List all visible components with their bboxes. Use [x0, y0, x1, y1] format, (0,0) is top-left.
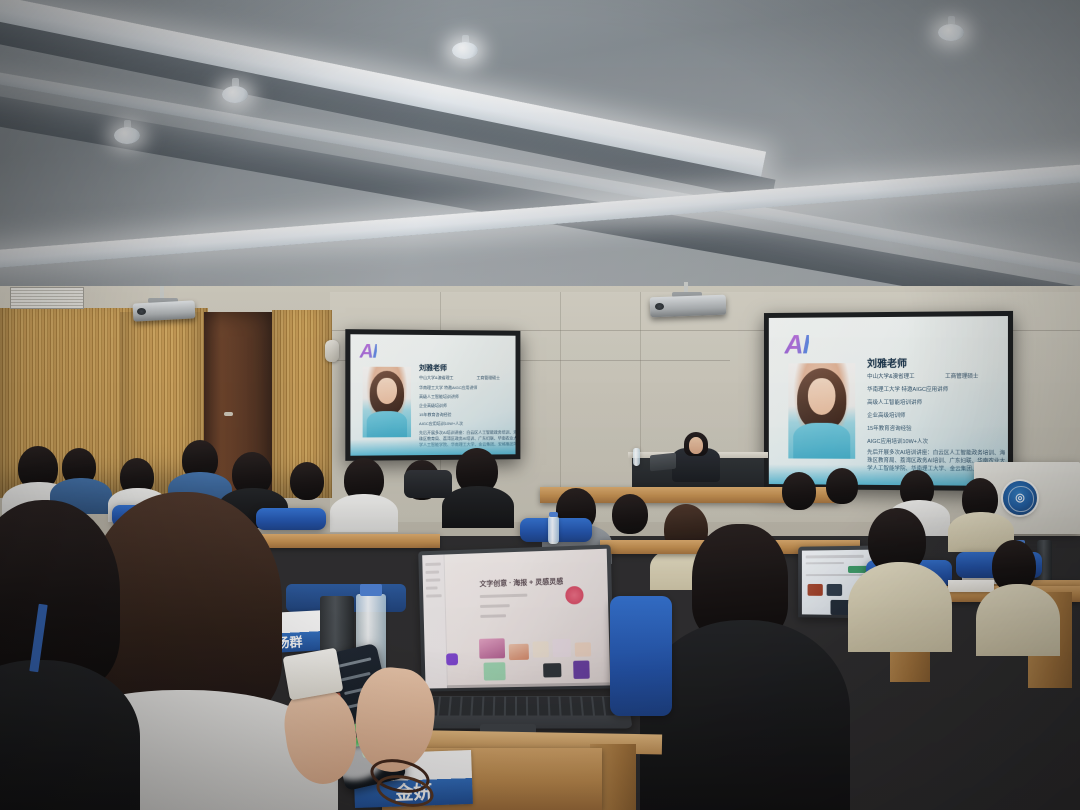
slide-right-bullet-0: 华南理工大学 特邀AIGC应用讲师 [867, 385, 948, 393]
sidebar-item[interactable] [426, 586, 438, 589]
wall-speaker [325, 340, 339, 362]
ceiling-air-vent [10, 287, 84, 309]
slide-left-subtitle-left: 中山大学&澳省理工 [419, 375, 453, 381]
seal-glyph: ◎ [1003, 491, 1037, 504]
university-seal: ◎ [1003, 481, 1037, 515]
projection-screen-left: AI 刘雅老师 中山大学&澳省理工 工商管理硕士 华南理工大学 特邀AIGC应用… [345, 329, 520, 461]
slide-left-title: 刘雅老师 [419, 363, 447, 373]
slide-left-bullet-2: 企业高级培训师 [419, 403, 447, 409]
content-thumb[interactable] [552, 639, 571, 658]
slide-left-bullet-3: 15年教育咨询经验 [419, 412, 451, 418]
slide-right-title: 刘雅老师 [867, 355, 907, 370]
slide-left-bullet-4: AIGC应用培训10W+人次 [419, 421, 463, 427]
content-row [480, 604, 510, 608]
lecture-hall-photo: AI 刘雅老师 中山大学&澳省理工 工商管理硕士 华南理工大学 特邀AIGC应用… [0, 0, 1080, 810]
content-thumb[interactable] [533, 641, 549, 657]
slide-right-portrait [788, 363, 855, 459]
slide-right-bullet-3: 15年教育咨询经验 [867, 424, 911, 432]
slide-right-bullet-2: 企业高级培训师 [867, 411, 905, 419]
chair-blue[interactable] [256, 508, 326, 530]
laptop-foreground[interactable]: 文字创意 · 海报 + 灵感灵感 [418, 545, 614, 692]
audience-desk [240, 534, 440, 548]
slide-left-ai-logo: AI [360, 341, 377, 363]
content-row [480, 594, 528, 598]
projector-lens-right [655, 303, 664, 310]
audience-shoulders [442, 486, 514, 528]
water-bottle-cap [549, 512, 558, 517]
chat-row [338, 657, 372, 668]
spotlight-4 [938, 24, 964, 41]
content-thumb[interactable] [543, 663, 561, 677]
presenter-head [689, 437, 703, 454]
sidebar-item[interactable] [426, 594, 442, 597]
slide-left: AI 刘雅老师 中山大学&澳省理工 工商管理硕士 华南理工大学 特邀AIGC应用… [350, 334, 515, 456]
laptop-app-title: 文字创意 · 海报 + 灵感灵感 [479, 576, 563, 589]
content-thumb[interactable] [575, 642, 592, 656]
feed-thumb [808, 584, 823, 596]
slide-right-bullet-4: AIGC应用培训10W+人次 [867, 437, 928, 445]
slide-left-bullet-0: 华南理工大学 特邀AIGC应用讲师 [419, 385, 477, 391]
feed-thumb [827, 584, 842, 596]
content-thumb[interactable] [479, 638, 505, 659]
taskbar[interactable] [447, 682, 610, 688]
wall-seam-v2 [560, 292, 561, 492]
content-thumb-pink[interactable] [565, 586, 584, 605]
spotlight-1 [114, 127, 140, 144]
portrait-body-right [793, 423, 850, 459]
sidebar-item[interactable] [425, 571, 439, 574]
slide-right-subtitle-right: 工商管理硕士 [945, 372, 978, 380]
slide-right-bullet-1: 高级人工智能培训讲师 [867, 398, 922, 406]
app-icon[interactable] [446, 653, 458, 665]
audience-head [826, 468, 858, 504]
audience-shoulders [848, 562, 952, 652]
feed-row [806, 555, 864, 559]
audience-shoulders [330, 494, 398, 532]
audience-head [290, 462, 324, 500]
slide-left-subtitle-right: 工商管理硕士 [476, 375, 499, 381]
presenter-water-bottle[interactable] [633, 448, 640, 466]
chair-blue-foreground[interactable] [610, 596, 672, 716]
water-bottle-cap [360, 584, 382, 596]
slide-left-portrait [363, 367, 411, 438]
laptop-sidebar[interactable] [422, 554, 448, 688]
content-thumb[interactable] [484, 662, 506, 680]
projector-lens-left [137, 308, 146, 315]
content-thumb[interactable] [573, 660, 590, 678]
slide-left-bullet-1: 高级人工智能培训讲师 [419, 394, 459, 400]
portrait-body [367, 411, 407, 437]
portrait-face-right [808, 378, 836, 415]
door-handle[interactable] [224, 412, 233, 416]
audience-head [612, 494, 648, 534]
laptop-keyboard[interactable] [417, 697, 616, 716]
spotlight-2 [222, 86, 248, 103]
audience-shoulders [976, 584, 1060, 656]
chair-black[interactable] [404, 470, 452, 498]
portrait-face [377, 378, 397, 404]
right-desk-papers[interactable] [948, 580, 994, 592]
slide-right-subtitle-left: 中山大学&澳省理工 [867, 372, 915, 380]
ceiling [0, 0, 1080, 330]
tissue-paper [283, 648, 344, 701]
audience-head [782, 472, 816, 510]
sidebar-item[interactable] [425, 563, 441, 566]
slide-right-ai-logo: AI [784, 330, 808, 361]
slide-right: AI 刘雅老师 中山大学&澳省理工 工商管理硕士 华南理工大学 特邀AIGC应用… [769, 316, 1008, 486]
water-bottle[interactable] [548, 516, 559, 544]
presenter-laptop[interactable] [650, 453, 676, 472]
content-thumb[interactable] [509, 644, 529, 660]
feed-row [806, 562, 844, 564]
spotlight-3 [452, 42, 478, 59]
laptop-foreground-screen[interactable]: 文字创意 · 海报 + 灵感灵感 [422, 549, 610, 689]
content-row [480, 614, 506, 618]
sidebar-item[interactable] [426, 578, 441, 581]
